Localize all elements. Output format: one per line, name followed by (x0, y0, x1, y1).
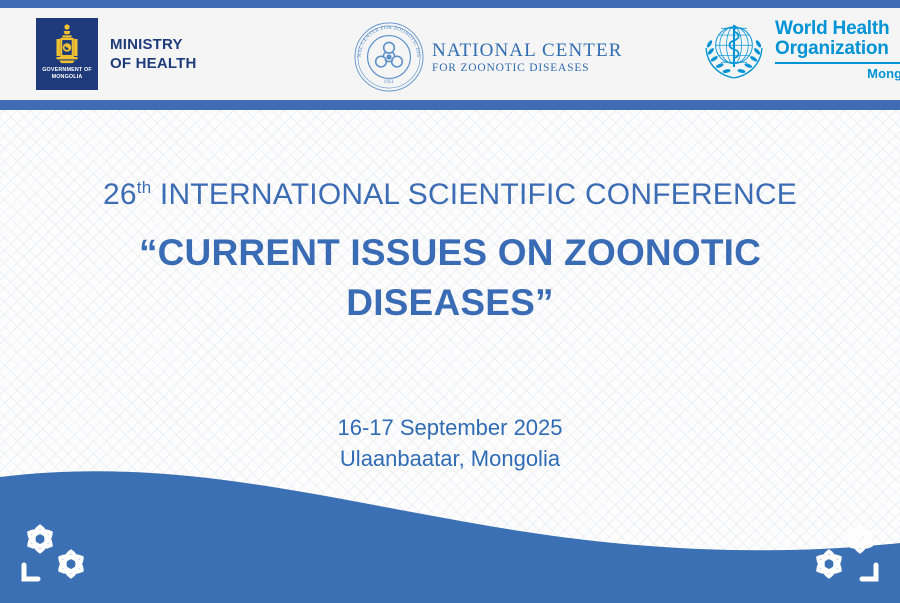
nczd-seal-icon: NATIONAL CENTER FOR ZOONOTIC DISEASES 19… (352, 20, 426, 94)
ministry-name-line2: OF HEALTH (110, 54, 197, 73)
soyombo-icon (36, 23, 98, 71)
triquetra-ornament-right (800, 515, 886, 589)
wave-blue-shape (0, 471, 900, 603)
bottom-wave-decoration (0, 455, 900, 603)
conference-date: 16-17 September 2025 (0, 412, 900, 443)
triquetra-ornament-left (14, 515, 100, 589)
nczd-name-line2: FOR ZOONOTIC DISEASES (432, 61, 622, 75)
ministry-of-health-name: MINISTRY OF HEALTH (110, 35, 197, 73)
nczd-name-line1: NATIONAL CENTER (432, 40, 622, 61)
who-name-line1: World Health (775, 19, 900, 39)
who-divider-rule (775, 62, 900, 64)
who-name-line2: Organization (775, 39, 900, 59)
emblem-caption-line1: GOVERNMENT OF (36, 67, 98, 74)
edition-ordinal-suffix: th (137, 178, 152, 197)
svg-text:1951: 1951 (384, 80, 395, 85)
national-center-zoonotic-diseases-logo: NATIONAL CENTER FOR ZOONOTIC DISEASES 19… (352, 20, 622, 94)
edition-title-rest: INTERNATIONAL SCIENTIFIC CONFERENCE (151, 178, 797, 211)
emblem-caption-line2: MONGOLIA (36, 74, 98, 81)
ministry-of-health-logo: GOVERNMENT OF MONGOLIA MINISTRY OF HEALT… (36, 18, 197, 90)
conference-edition-title: 26th INTERNATIONAL SCIENTIFIC CONFERENCE (0, 178, 900, 212)
who-name: World Health Organization Mongolia (775, 19, 900, 81)
who-emblem-icon (700, 18, 768, 82)
header-divider-bar (0, 100, 900, 110)
who-logo: World Health Organization Mongolia (700, 18, 900, 82)
edition-number: 26 (103, 178, 137, 211)
who-country-label: Mongolia (775, 66, 900, 81)
mongolia-government-emblem: GOVERNMENT OF MONGOLIA (36, 18, 98, 90)
conference-title-slide: GOVERNMENT OF MONGOLIA MINISTRY OF HEALT… (0, 0, 900, 603)
conference-theme-title: “CURRENT ISSUES ON ZOONOTIC DISEASES” (70, 228, 830, 328)
ministry-name-line1: MINISTRY (110, 35, 197, 54)
top-accent-bar (0, 0, 900, 8)
nczd-name: NATIONAL CENTER FOR ZOONOTIC DISEASES (432, 40, 622, 75)
